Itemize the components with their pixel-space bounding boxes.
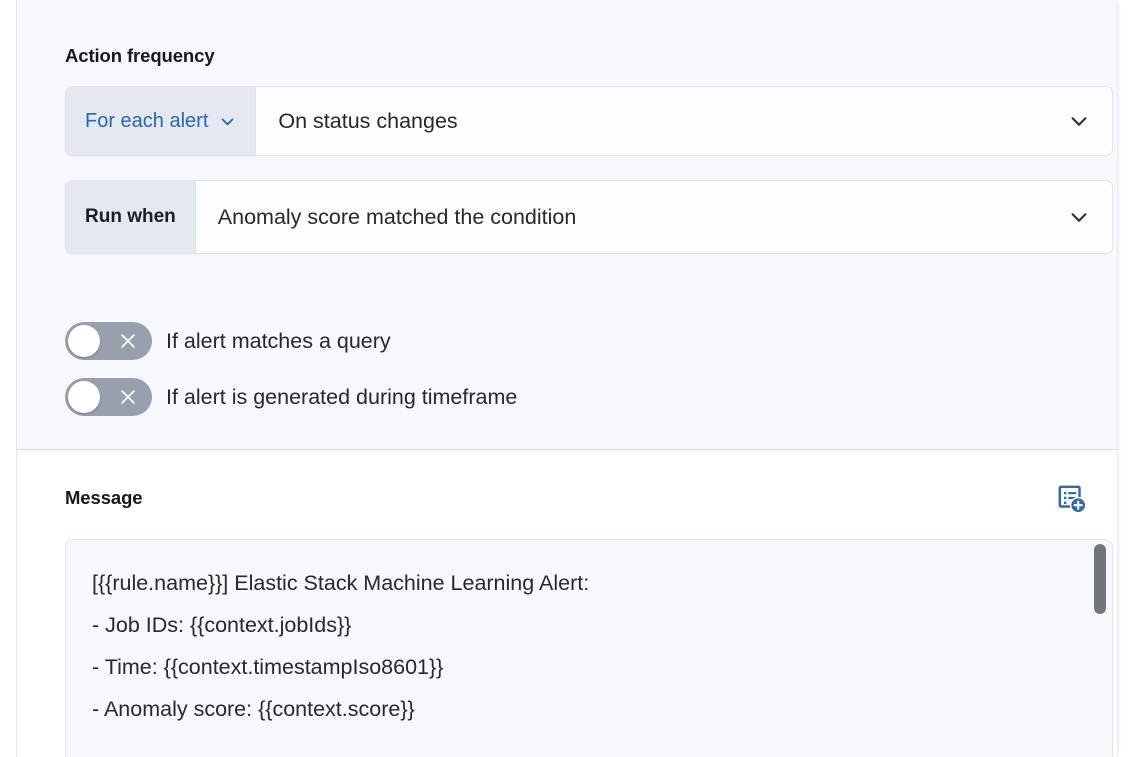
add-variable-button[interactable] [1055, 483, 1089, 517]
run-when-label: Run when [85, 206, 176, 228]
close-icon [118, 331, 138, 351]
scrollbar-thumb[interactable] [1094, 544, 1106, 614]
run-when-row[interactable]: Run when Anomaly score matched the condi… [65, 180, 1113, 254]
textarea-line: [{{rule.name}}] Elastic Stack Machine Le… [92, 562, 1086, 604]
alert-timeframe-toggle-row[interactable]: If alert is generated during timeframe [65, 378, 517, 416]
screen: Action frequency For each alert On statu… [0, 0, 1145, 757]
toggle-knob [68, 381, 100, 413]
alert-query-toggle-row[interactable]: If alert matches a query [65, 322, 391, 360]
run-when-prepend: Run when [66, 181, 196, 253]
for-each-alert-dropdown[interactable]: For each alert [66, 87, 256, 155]
chevron-down-icon [219, 113, 236, 130]
textarea-line: - Job IDs: {{context.jobIds}} [92, 604, 1086, 646]
action-group-select[interactable]: Anomaly score matched the condition [196, 181, 1112, 253]
alert-timeframe-toggle-label: If alert is generated during timeframe [166, 385, 517, 410]
textarea-line: - Time: {{context.timestampIso8601}} [92, 646, 1086, 688]
action-settings-panel: Action frequency For each alert On statu… [16, 0, 1118, 757]
notify-when-value: On status changes [278, 109, 457, 134]
notify-when-select[interactable]: On status changes [256, 87, 1112, 155]
message-heading: Message [65, 487, 142, 509]
action-frequency-heading: Action frequency [65, 45, 215, 67]
alert-query-toggle[interactable] [65, 322, 152, 360]
message-textarea[interactable]: [{{rule.name}}] Elastic Stack Machine Le… [65, 539, 1113, 757]
add-variable-icon [1057, 484, 1087, 517]
alert-timeframe-toggle[interactable] [65, 378, 152, 416]
alert-query-toggle-label: If alert matches a query [166, 329, 391, 354]
message-section: Message [17, 451, 1117, 757]
toggle-knob [68, 325, 100, 357]
textarea-scrollbar[interactable] [1094, 544, 1106, 757]
action-group-value: Anomaly score matched the condition [218, 205, 577, 230]
close-icon [118, 387, 138, 407]
notify-frequency-row[interactable]: For each alert On status changes [65, 86, 1113, 156]
for-each-alert-label: For each alert [85, 110, 208, 133]
action-frequency-section: Action frequency For each alert On statu… [17, 0, 1117, 450]
textarea-line: - Anomaly score: {{context.score}} [92, 688, 1086, 730]
